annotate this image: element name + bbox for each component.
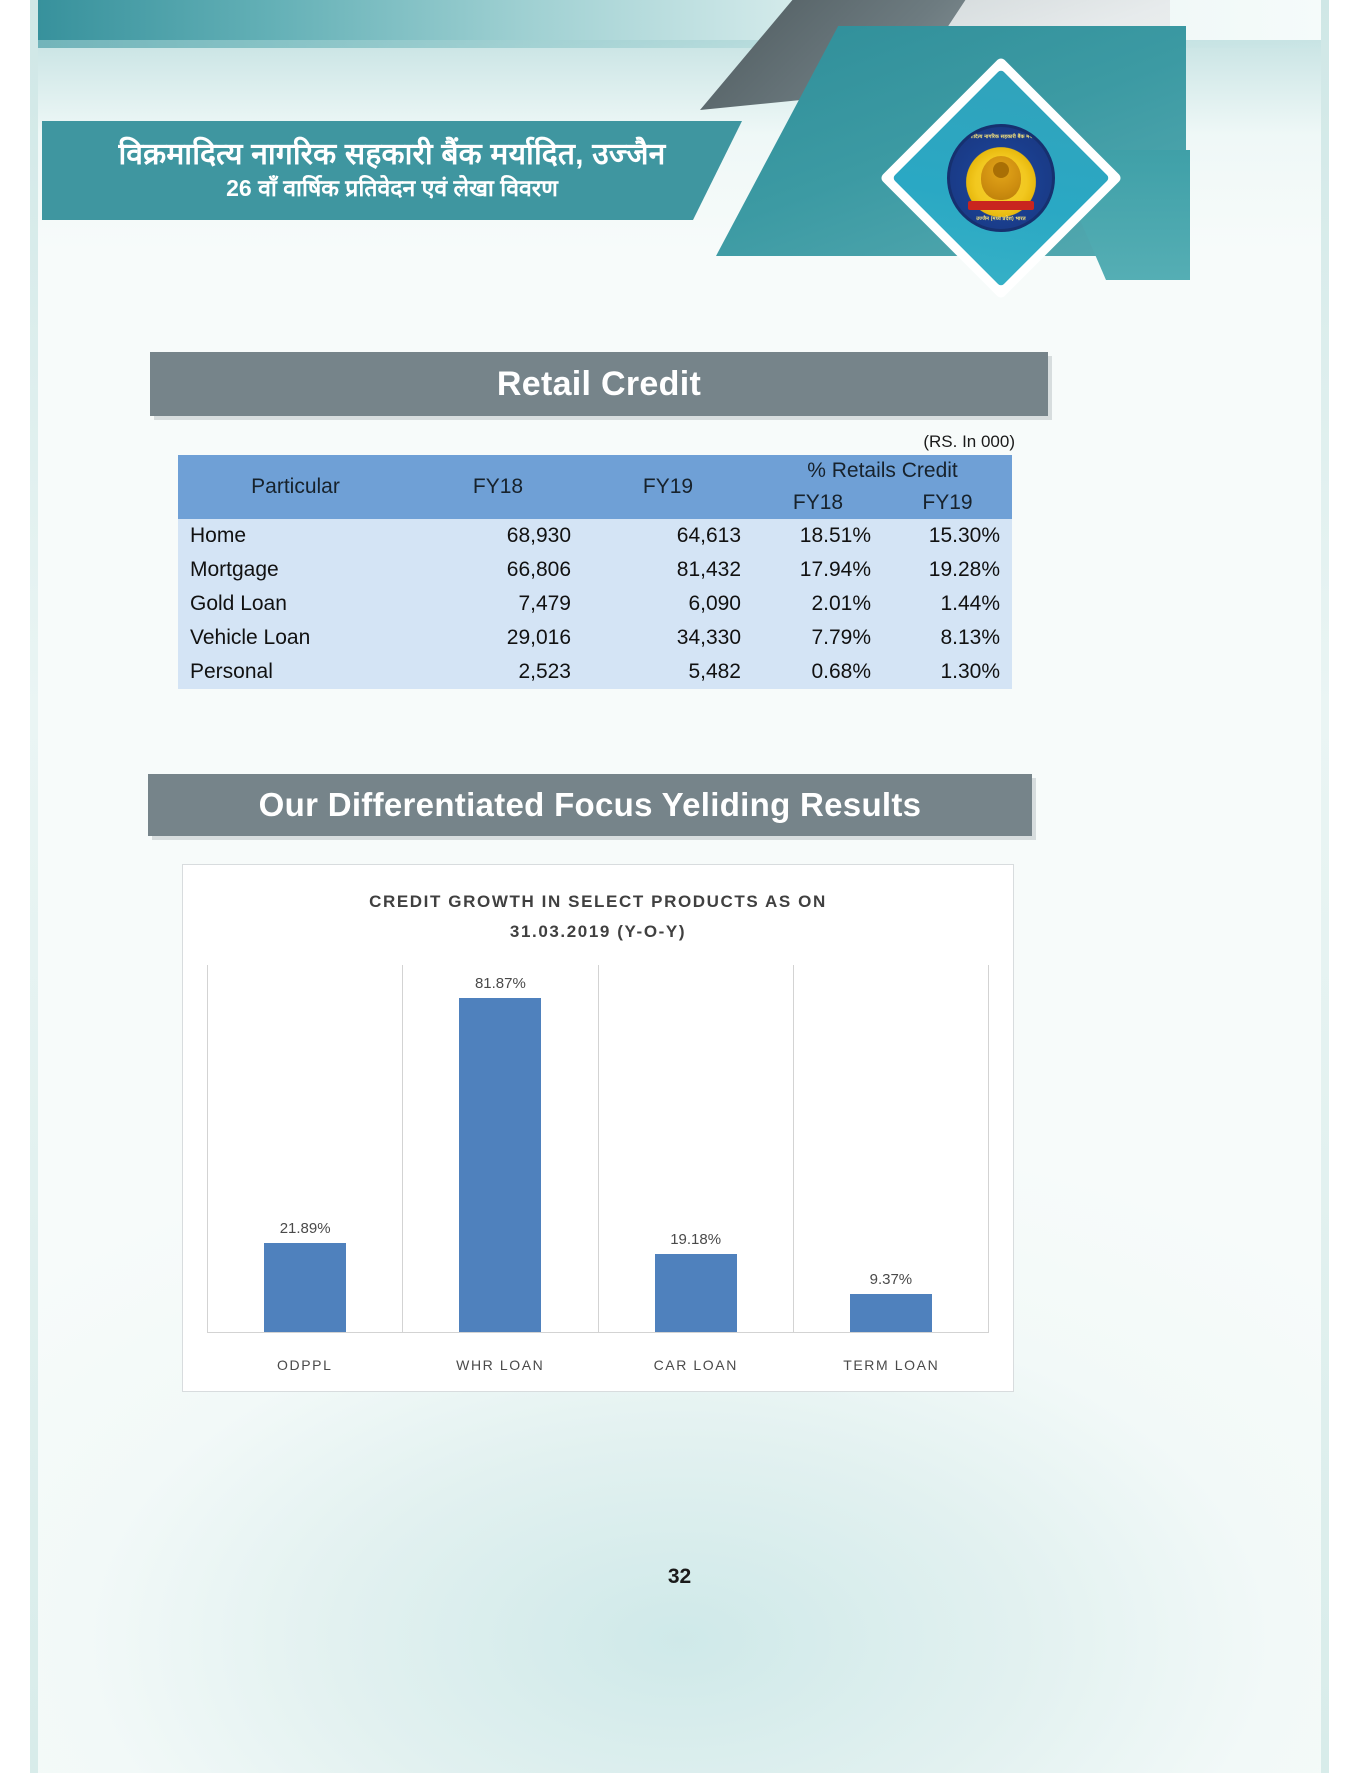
cell-particular: Mortgage [178,553,413,587]
cell-pct-fy18: 2.01% [753,587,883,621]
chart-bars-container: 21.89%81.87%19.18%9.37% [207,965,989,1333]
cell-fy19: 34,330 [583,621,753,655]
seal-ribbon [968,201,1033,210]
chart-bar [655,1254,737,1332]
report-subtitle: 26 वाँ वार्षिक प्रतिवेदन एवं लेखा विवरण [226,174,558,204]
column-header-pct-retail-credit: % Retails Credit [753,455,1012,487]
cell-fy19: 6,090 [583,587,753,621]
chart-x-axis-label: CAR LOAN [598,1357,794,1373]
chart-x-axis-label: TERM LOAN [794,1357,990,1373]
table-row: Home68,93064,61318.51%15.30% [178,519,1012,553]
cell-pct-fy19: 1.30% [883,655,1012,689]
chart-plot-area: 21.89%81.87%19.18%9.37% [207,965,989,1333]
cell-fy19: 81,432 [583,553,753,587]
cell-fy18: 29,016 [413,621,583,655]
column-header-pct-fy18: FY18 [753,487,883,519]
table-body: Home68,93064,61318.51%15.30%Mortgage66,8… [178,519,1012,689]
chart-title-line-2: 31.03.2019 (Y-O-Y) [183,917,1013,947]
column-header-pct-fy19: FY19 [883,487,1012,519]
cell-fy19: 5,482 [583,655,753,689]
retail-credit-table: Particular FY18 FY19 % Retails Credit FY… [178,455,1012,689]
chart-bar-value-label: 81.87% [475,975,526,992]
chart-bar-value-label: 21.89% [280,1220,331,1237]
cell-pct-fy19: 15.30% [883,519,1012,553]
table-row: Vehicle Loan29,01634,3307.79%8.13% [178,621,1012,655]
cell-pct-fy18: 17.94% [753,553,883,587]
cell-pct-fy18: 18.51% [753,519,883,553]
cell-fy18: 68,930 [413,519,583,553]
annual-report-page: विक्रमादित्य नागरिक सहकारी बैंक मर्यादित… [0,0,1359,1773]
bank-logo: विक्रमादित्य नागरिक सहकारी बैंक मर्यादित… [915,92,1087,264]
chart-bar [459,998,541,1332]
cell-particular: Home [178,519,413,553]
chart-bar-slot: 21.89% [208,965,403,1332]
chart-bar-value-label: 19.18% [670,1231,721,1248]
seal-bottom-text: उज्जैन (मध्य प्रदेश) भारत [950,216,1052,222]
chart-x-axis-label: ODPPL [207,1357,403,1373]
cell-pct-fy18: 7.79% [753,621,883,655]
chart-bar-slot: 19.18% [599,965,794,1332]
chart-bar [850,1294,932,1332]
page-edge-band-right [1321,0,1329,1773]
cell-pct-fy19: 8.13% [883,621,1012,655]
table-header-row-group: Particular FY18 FY19 % Retails Credit [178,455,1012,487]
table-head: Particular FY18 FY19 % Retails Credit FY… [178,455,1012,519]
table-row: Mortgage66,80681,43217.94%19.28% [178,553,1012,587]
focus-title: Our Differentiated Focus Yeliding Result… [259,786,922,824]
page-number: 32 [0,1565,1359,1589]
header-title-plate: विक्रमादित्य नागरिक सहकारी बैंक मर्यादित… [42,121,742,220]
chart-bar [264,1243,346,1332]
cell-fy18: 2,523 [413,655,583,689]
retail-credit-title: Retail Credit [497,365,701,404]
chart-title: CREDIT GROWTH IN SELECT PRODUCTS AS ON 3… [183,887,1013,947]
cell-fy18: 7,479 [413,587,583,621]
column-header-fy19: FY19 [583,455,753,519]
chart-title-line-1: CREDIT GROWTH IN SELECT PRODUCTS AS ON [183,887,1013,917]
seal-top-text: विक्रमादित्य नागरिक सहकारी बैंक मर्यादित [950,134,1052,140]
focus-section-header: Our Differentiated Focus Yeliding Result… [148,774,1032,836]
bank-name: विक्रमादित्य नागरिक सहकारी बैंक मर्यादित… [118,137,665,172]
retail-credit-section-header: Retail Credit [150,352,1048,416]
cell-pct-fy18: 0.68% [753,655,883,689]
cell-particular: Vehicle Loan [178,621,413,655]
chart-x-axis: ODPPLWHR LOANCAR LOANTERM LOAN [207,1357,989,1373]
credit-growth-chart-card: CREDIT GROWTH IN SELECT PRODUCTS AS ON 3… [182,864,1014,1392]
column-header-fy18: FY18 [413,455,583,519]
cell-particular: Gold Loan [178,587,413,621]
cell-fy19: 64,613 [583,519,753,553]
column-header-particular: Particular [178,455,413,519]
cell-fy18: 66,806 [413,553,583,587]
cell-particular: Personal [178,655,413,689]
table-row: Personal2,5235,4820.68%1.30% [178,655,1012,689]
chart-bar-value-label: 9.37% [870,1271,913,1288]
chart-x-axis-label: WHR LOAN [403,1357,599,1373]
chart-bar-slot: 81.87% [403,965,598,1332]
seal-deity-figure [981,156,1021,200]
cell-pct-fy19: 1.44% [883,587,1012,621]
cell-pct-fy19: 19.28% [883,553,1012,587]
page-edge-band-left [30,0,38,1773]
table-units-note: (RS. In 000) [923,432,1015,452]
logo-seal-icon: विक्रमादित्य नागरिक सहकारी बैंक मर्यादित… [947,124,1055,232]
chart-bar-slot: 9.37% [794,965,988,1332]
table-row: Gold Loan7,4796,0902.01%1.44% [178,587,1012,621]
